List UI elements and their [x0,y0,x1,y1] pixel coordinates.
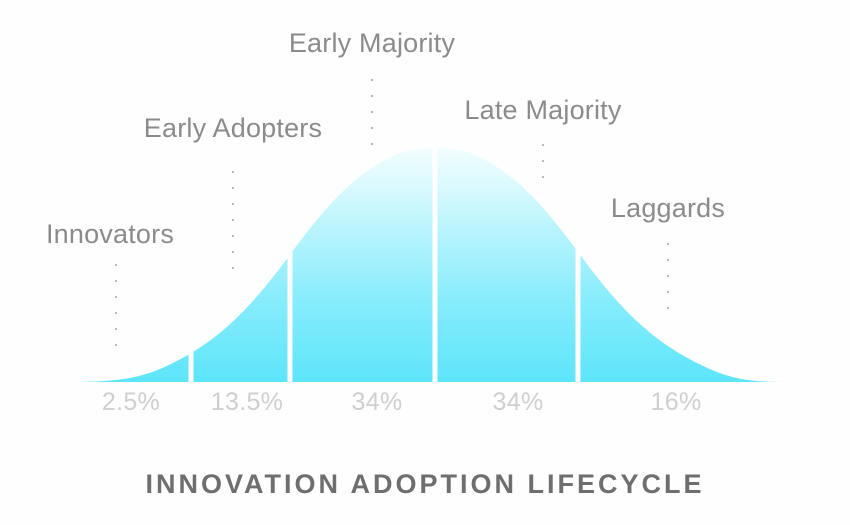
percent-label-early-adopters: 13.5% [211,390,283,415]
segment-label-late-majority: Late Majority [464,97,621,124]
percent-label-innovators: 2.5% [102,390,160,415]
leader-line-laggards [667,236,670,314]
leader-line-late-majority [542,137,545,182]
segment-label-laggards: Laggards [611,195,725,222]
bell-curve-chart [0,0,850,525]
bell-curve-area [68,148,782,382]
infographic-canvas: Innovators Early Adopters Early Majority… [0,0,850,525]
leader-line-innovators [115,257,118,349]
chart-title: INNOVATION ADOPTION LIFECYCLE [0,471,850,498]
segment-divider-3 [433,140,438,385]
leader-line-early-adopters [232,164,235,277]
segment-label-innovators: Innovators [46,221,174,248]
percent-label-laggards: 16% [651,390,702,415]
segment-divider-4 [576,140,581,385]
percent-label-early-majority: 34% [352,390,403,415]
segment-label-early-adopters: Early Adopters [144,115,322,142]
segment-label-early-majority: Early Majority [289,30,455,57]
percent-label-late-majority: 34% [493,390,544,415]
curve-fill-group [68,148,782,382]
segment-divider-2 [288,140,293,385]
leader-line-early-majority [371,72,374,148]
segment-dividers [189,140,581,385]
segment-divider-1 [189,140,194,385]
